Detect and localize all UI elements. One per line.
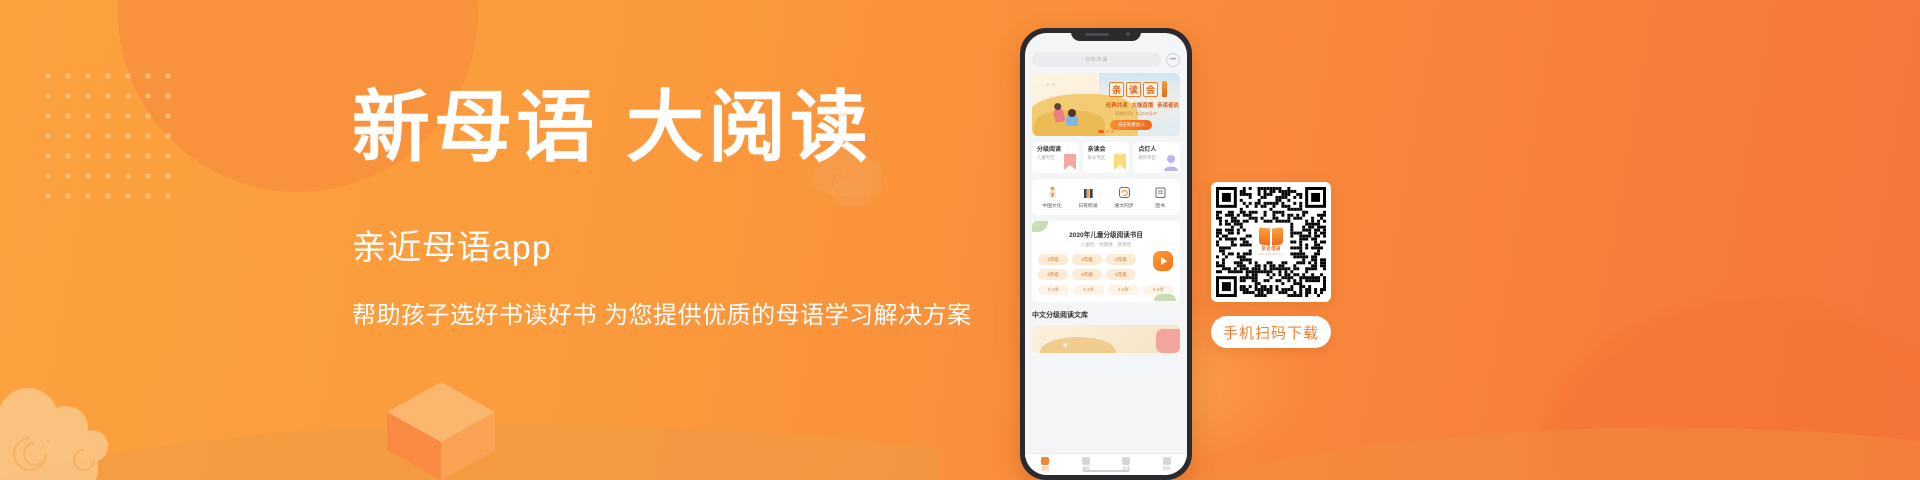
course-icon [1082, 457, 1090, 465]
quick-icon-label: 日有所诵 [1078, 202, 1097, 209]
book-logo-icon [1259, 228, 1283, 245]
lantern-icon [1046, 186, 1059, 199]
phone-camera-icon [1126, 32, 1130, 36]
category-card-teacher[interactable]: 点灯人 教师专区 [1133, 142, 1180, 173]
quick-icon-chinese-culture[interactable]: 中国文化 [1034, 186, 1070, 209]
play-triangle [1161, 257, 1167, 265]
tab-home[interactable]: 首页 [1025, 457, 1066, 473]
logo-text: 亲近母语 [1261, 246, 1280, 252]
booklist-age-tags: 0-3岁 3-4岁 4-5岁 5-6岁 [1038, 285, 1174, 295]
app-category-cards: 分级阅读 儿童专区 亲读会 家长专区 点灯人 [1032, 142, 1180, 173]
hero-carousel-dots[interactable] [1098, 130, 1114, 133]
more-menu-icon[interactable]: ••• [1166, 53, 1180, 67]
decor-ground-sweep-right [1140, 380, 1920, 480]
app-booklist-card[interactable]: 2020年儿童分级阅读书目 儿童性、经典性、教育性 1年级 2年级 3年级 4年… [1032, 221, 1180, 302]
headline-part-2: 大阅读 [626, 82, 872, 173]
bookmark-icon [1063, 153, 1077, 171]
copy-block: 新母语大阅读 亲近母语app 帮助孩子选好书读好书 为您提供优质的母语学习解决方… [352, 86, 1012, 330]
headline-part-1: 新母语 [352, 82, 598, 173]
library-pink-decor [1156, 329, 1180, 353]
logo-pinyin: QIN JIN MU YU [1259, 253, 1284, 256]
age-tag[interactable]: 4-5岁 [1108, 285, 1139, 295]
page-title: 新母语大阅读 [352, 86, 1012, 170]
hero-date: 直播时间：9月6-9月27 [1115, 111, 1157, 117]
tab-profile[interactable]: 我的 [1147, 457, 1188, 473]
hero-tag: 大咖直播 [1132, 101, 1154, 109]
app-search-row: 日有所诵 ••• [1032, 52, 1180, 67]
refresh-icon [1118, 186, 1131, 199]
brand-logo: 亲近母语 QIN JIN MU YU [1255, 226, 1287, 258]
quick-icon-daily-recite[interactable]: 日有所诵 [1070, 186, 1106, 209]
qr-card: 亲近母语 QIN JIN MU YU [1211, 182, 1331, 302]
booklist-grade-tags: 1年级 2年级 3年级 4年级 5年级 6年级 [1038, 254, 1136, 280]
booklist-subtitle: 儿童性、经典性、教育性 [1038, 242, 1174, 248]
app-name: 亲近母语app [352, 220, 1012, 269]
library-section-title: 中文分级阅读文库 [1032, 310, 1180, 320]
library-arc-decor [1040, 337, 1116, 353]
home-indicator [1083, 470, 1129, 473]
phone-screen: 日有所诵 ••• ⌁ ⌁ 亲 读 会 [1025, 33, 1187, 475]
quick-icon-label: 中国文化 [1042, 202, 1061, 209]
qr-block: 亲近母语 QIN JIN MU YU 手机扫码下载 [1211, 182, 1331, 348]
banner-description: 帮助孩子选好书读好书 为您提供优质的母语学习解决方案 [352, 295, 1012, 330]
hero-title-char: 会 [1143, 82, 1158, 97]
hero-title-char: 读 [1126, 82, 1141, 97]
leaf-decor-icon [1154, 294, 1176, 301]
hero-birds-icon: ⌁ ⌁ [1046, 82, 1056, 88]
quick-icon-label: 图书 [1155, 202, 1165, 209]
quick-icon-label: 语文同步 [1114, 202, 1133, 209]
decor-ground-sweep-left [0, 378, 940, 480]
grade-tag[interactable]: 1年级 [1038, 254, 1068, 265]
grade-tag[interactable]: 4年级 [1038, 269, 1068, 280]
age-tag[interactable]: 0-3岁 [1038, 285, 1069, 295]
library-card[interactable]: ★ [1032, 325, 1180, 353]
quick-icon-textbook-sync[interactable]: 语文同步 [1106, 186, 1142, 209]
phone-speaker [1085, 33, 1109, 36]
scan-download-button[interactable]: 手机扫码下载 [1211, 316, 1331, 348]
page-icon [1113, 153, 1127, 171]
app-quick-icons: 中国文化 日有所诵 [1032, 179, 1180, 215]
carousel-dot-active[interactable] [1098, 130, 1104, 133]
profile-icon [1163, 457, 1171, 465]
carousel-dot[interactable] [1106, 130, 1109, 133]
hero-title-char: 亲 [1109, 82, 1124, 97]
category-card-graded-reading[interactable]: 分级阅读 儿童专区 [1032, 142, 1079, 173]
phone-mockup: 日有所诵 ••• ⌁ ⌁ 亲 读 会 [1020, 28, 1192, 480]
tab-label: 首页 [1041, 466, 1049, 472]
category-card-parent-club[interactable]: 亲读会 家长专区 [1083, 142, 1130, 173]
hero-title: 亲 读 会 [1109, 81, 1167, 97]
hero-tag: 亲读者说 [1157, 101, 1179, 109]
decor-glow-bottom-right [1540, 300, 1920, 480]
discover-icon [1122, 457, 1130, 465]
decor-dot-grid [34, 62, 174, 212]
hero-child-illustration-2 [1066, 114, 1078, 126]
book-icon [1154, 186, 1167, 199]
booklist-title: 2020年儿童分级阅读书目 [1038, 229, 1174, 239]
search-input[interactable]: 日有所诵 [1032, 52, 1161, 67]
home-icon [1041, 457, 1049, 465]
grade-tag[interactable]: 6年级 [1106, 269, 1136, 280]
grade-tag[interactable]: 5年级 [1072, 269, 1102, 280]
books-icon [1082, 186, 1095, 199]
age-tag[interactable]: 3-4岁 [1073, 285, 1104, 295]
hero-tag: 经典共读 [1106, 101, 1128, 109]
hero-cta-button[interactable]: 点击免费加入 [1110, 120, 1152, 130]
quick-icon-books[interactable]: 图书 [1142, 186, 1178, 209]
app-hero-banner[interactable]: ⌁ ⌁ 亲 读 会 经典共读 大咖直播 亲读者说 直播时间：9月6-9月27 [1032, 73, 1180, 136]
grade-tag[interactable]: 2年级 [1072, 254, 1102, 265]
decor-isometric-cube [383, 376, 499, 480]
grade-tag[interactable]: 3年级 [1106, 254, 1136, 265]
hero-book-icon [1162, 81, 1167, 97]
promo-banner: 新母语大阅读 亲近母语app 帮助孩子选好书读好书 为您提供优质的母语学习解决方… [0, 0, 1920, 480]
decor-cloud-bottom-left [0, 376, 168, 480]
person-icon [1164, 153, 1178, 171]
phone-notch [1071, 28, 1141, 41]
carousel-dot[interactable] [1111, 130, 1114, 133]
hero-tags: 经典共读 大咖直播 亲读者说 [1106, 101, 1179, 109]
tab-label: 我的 [1163, 466, 1171, 472]
video-play-icon[interactable] [1153, 251, 1173, 271]
star-icon: ★ [1062, 341, 1068, 349]
